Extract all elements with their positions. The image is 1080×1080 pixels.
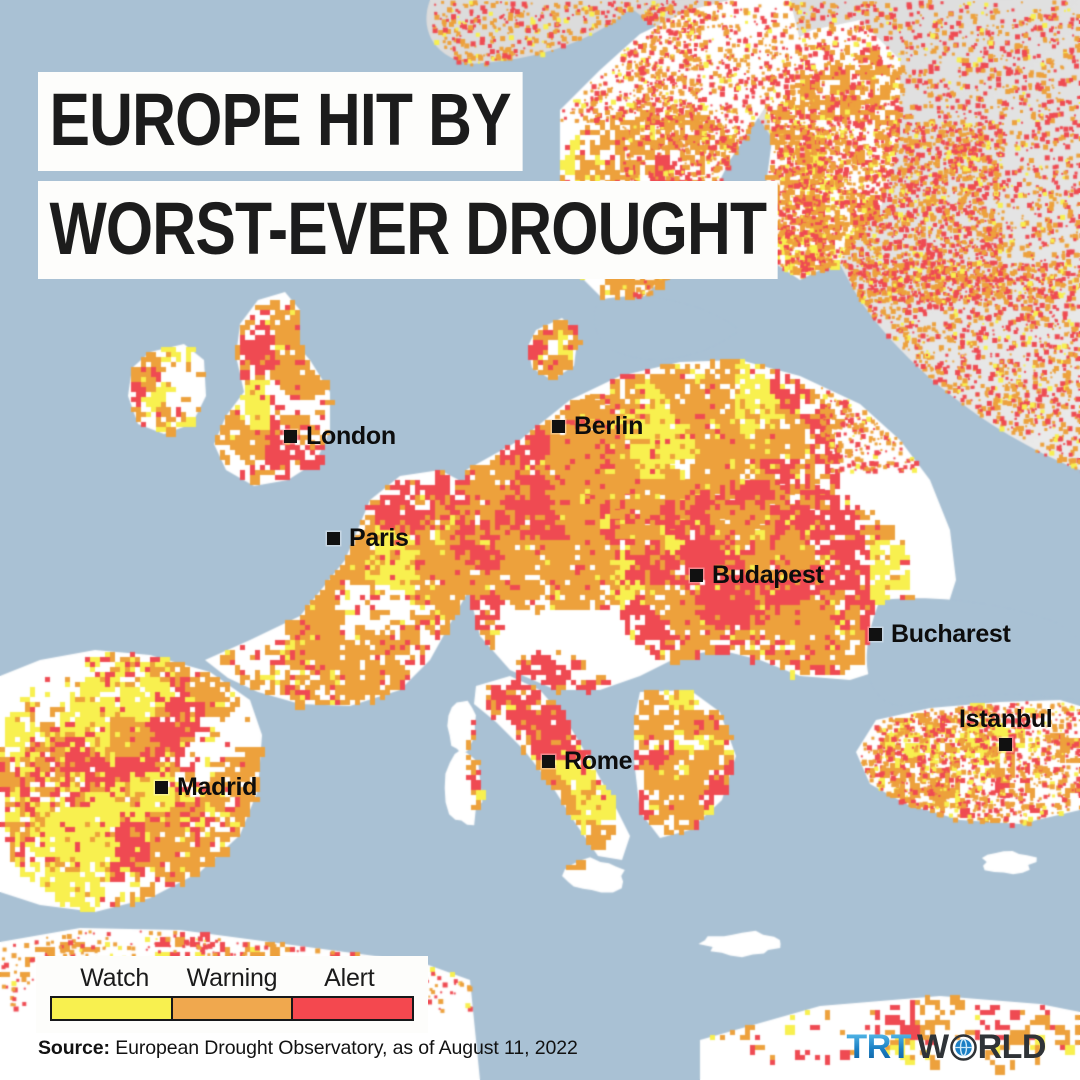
legend-swatch-alert: [291, 998, 412, 1019]
city-label-budapest: Budapest: [690, 561, 824, 590]
city-marker-icon: [542, 755, 555, 768]
city-label-madrid: Madrid: [155, 773, 257, 802]
city-label-istanbul: Istanbul: [959, 705, 1052, 751]
city-label-paris: Paris: [327, 524, 409, 553]
title-line-2: WORST-EVER DROUGHT: [38, 181, 778, 280]
source-text: European Drought Observatory, as of Augu…: [110, 1037, 578, 1059]
legend: WatchWarningAlert: [36, 956, 428, 1033]
legend-swatch-watch: [52, 998, 171, 1019]
city-label-berlin: Berlin: [552, 412, 643, 441]
city-name-text: London: [306, 422, 396, 451]
city-label-rome: Rome: [542, 747, 632, 776]
city-marker-icon: [327, 532, 340, 545]
legend-swatch-warning: [171, 998, 292, 1019]
logo-rld-text: RLD: [978, 1030, 1046, 1064]
city-marker-icon: [155, 781, 168, 794]
city-marker-icon: [690, 569, 703, 582]
city-marker-icon: [552, 420, 565, 433]
city-name-text: Paris: [349, 524, 409, 553]
legend-labels: WatchWarningAlert: [50, 964, 414, 996]
city-name-text: Madrid: [177, 773, 257, 802]
trt-world-logo[interactable]: TRT W RLD: [846, 1030, 1046, 1064]
city-name-text: Bucharest: [891, 620, 1011, 649]
source-label: Source:: [38, 1037, 110, 1059]
city-label-london: London: [284, 422, 396, 451]
city-marker-icon: [869, 628, 882, 641]
page-title: EUROPE HIT BY WORST-EVER DROUGHT: [38, 72, 940, 279]
title-line-1: EUROPE HIT BY: [38, 72, 522, 171]
logo-w-text: W: [917, 1030, 949, 1064]
city-marker-icon: [999, 738, 1012, 751]
globe-icon: [950, 1034, 977, 1061]
city-label-bucharest: Bucharest: [869, 620, 1011, 649]
logo-trt-text: TRT: [846, 1030, 917, 1064]
infographic-root: EUROPE HIT BY WORST-EVER DROUGHT LondonB…: [0, 0, 1080, 1080]
city-name-text: Rome: [564, 747, 632, 776]
city-marker-icon: [284, 430, 297, 443]
source-note: Source: European Drought Observatory, as…: [38, 1037, 578, 1060]
city-name-text: Berlin: [574, 412, 643, 441]
legend-color-bar: [50, 996, 414, 1021]
legend-label-watch: Watch: [56, 964, 173, 993]
legend-label-warning: Warning: [173, 964, 290, 993]
city-name-text: Budapest: [712, 561, 824, 590]
city-name-text: Istanbul: [959, 705, 1052, 734]
legend-label-alert: Alert: [291, 964, 408, 993]
